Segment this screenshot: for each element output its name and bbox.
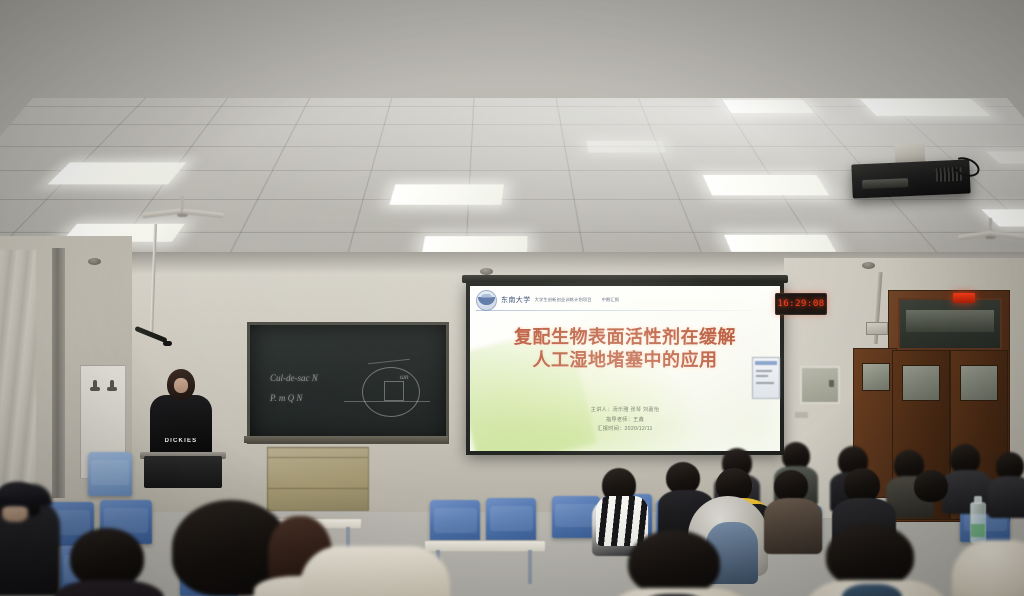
water-bottle[interactable] <box>970 502 986 544</box>
chalk-tray <box>244 436 448 443</box>
slide-date: 汇报时间：2020/12/11 <box>470 425 780 435</box>
slide-advisor: 指导老师：王鑫 <box>470 416 780 426</box>
microphone-head <box>163 341 172 346</box>
slide-program-name: 大学生创新创业训练计划项目 <box>535 297 592 303</box>
smoke-detector <box>88 258 101 265</box>
side-panel-glass <box>862 363 890 391</box>
projection-screen: 东南大学 大学生创新创业训练计划项目 中期汇报 复配生物表面活性剂在缓解 人工湿… <box>466 282 784 455</box>
chalk-diagram-line <box>368 359 410 365</box>
wall-column <box>52 248 65 498</box>
ceiling-panel-light <box>860 99 990 116</box>
clock-time: 16:29:08 <box>777 299 824 309</box>
desk-leg <box>528 550 532 584</box>
chalk-diagram-box <box>384 381 404 401</box>
smoke-detector <box>480 268 493 275</box>
storage-cabinet <box>267 447 369 511</box>
chalk-note: P. m Q N <box>270 393 302 403</box>
conduit-junction-box <box>866 322 888 335</box>
chalk-mark: ωn <box>400 373 408 381</box>
window-curtain <box>0 250 36 495</box>
wall-notice-sign <box>752 357 780 399</box>
ceiling-panel-light <box>422 236 528 253</box>
classroom-chair[interactable] <box>430 500 480 544</box>
door-transom-window <box>898 298 1002 350</box>
presenter-garment-text: DICKIES <box>152 438 210 444</box>
door-glass-pane <box>960 365 998 401</box>
ceiling-panel-light <box>722 100 814 113</box>
slide-header: 东南大学 大学生创新创业训练计划项目 中期汇报 <box>476 291 774 309</box>
classroom-chair[interactable] <box>88 452 132 496</box>
slide-university-name: 东南大学 <box>501 297 531 304</box>
led-wall-clock: 16:29:08 <box>775 293 827 315</box>
lecture-hall-photo: Cul-de-sac N P. m Q N ωn 东南大学 大学生创新创业训练计… <box>0 0 1024 596</box>
slide-title-line-2: 人工湿地堵塞中的应用 <box>470 349 780 372</box>
slide-stage-label: 中期汇报 <box>602 297 620 303</box>
blackboard: Cul-de-sac N P. m Q N ωn <box>247 322 449 444</box>
ceiling-panel-light <box>703 175 830 195</box>
slide-meta-block: 主讲人：汤乐雅 张琴 刘嘉怡 指导老师：王鑫 汇报时间：2020/12/11 <box>470 406 780 435</box>
slide-title-line-1: 复配生物表面活性剂在缓解 <box>470 326 780 349</box>
ceiling-panel-light <box>389 184 504 204</box>
presentation-slide: 东南大学 大学生创新创业训练计划项目 中期汇报 复配生物表面活性剂在缓解 人工湿… <box>470 286 780 451</box>
ceiling-panel-light <box>986 151 1024 163</box>
wall-label <box>795 412 808 418</box>
podium <box>144 456 222 488</box>
door-glass-pane <box>902 365 940 401</box>
presenter-face <box>174 378 188 393</box>
ceiling-fan <box>146 196 218 222</box>
ceiling-panel-light <box>586 141 666 153</box>
slide-header-rule <box>476 310 774 311</box>
chalk-note: Cul-de-sac N <box>270 373 318 383</box>
ceiling-panel-light <box>724 235 836 252</box>
ceiling-fan <box>960 218 1020 240</box>
classroom-chair[interactable] <box>486 498 536 542</box>
university-crest-icon <box>476 290 497 311</box>
smoke-detector <box>862 262 875 269</box>
wall-access-panel <box>800 366 840 404</box>
slide-presenters: 主讲人：汤乐雅 张琴 刘嘉怡 <box>470 406 780 416</box>
ceiling-panel-light <box>47 162 186 184</box>
projector-lens <box>862 178 908 189</box>
emergency-exit-light <box>953 293 975 303</box>
chalk-diagram-line <box>344 401 430 402</box>
slide-title: 复配生物表面活性剂在缓解 人工湿地堵塞中的应用 <box>470 326 780 372</box>
